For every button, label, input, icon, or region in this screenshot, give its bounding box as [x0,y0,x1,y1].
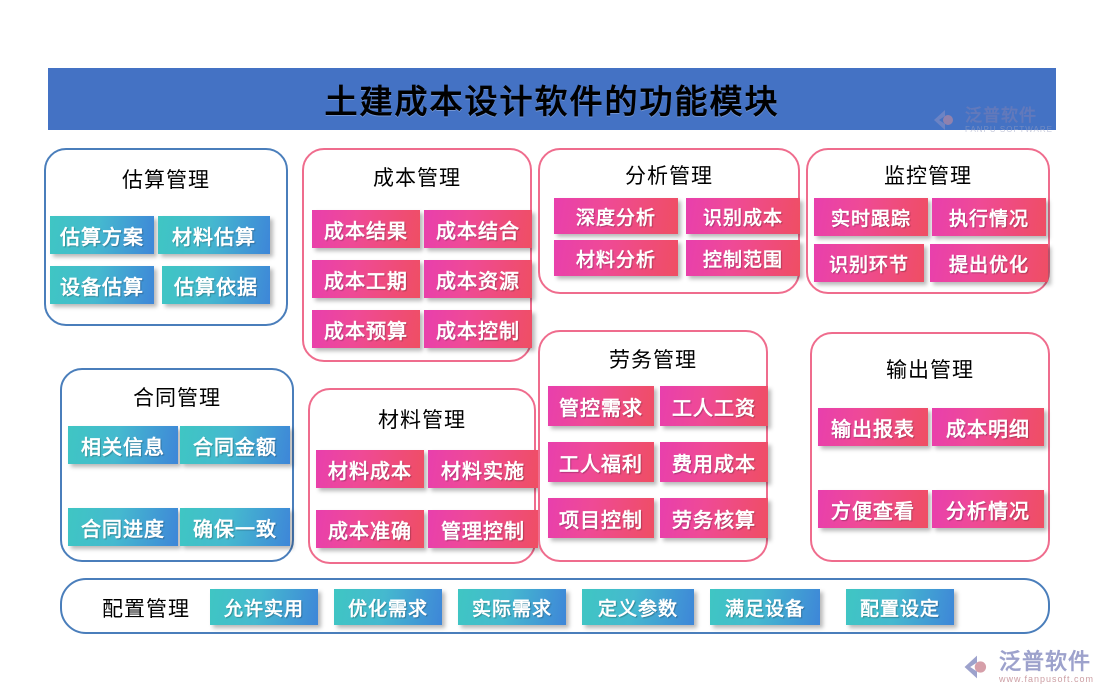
module-card-material: 材料管理材料成本材料实施成本准确管理控制 [308,388,536,564]
module-chip[interactable]: 管理控制 [428,510,538,548]
config-chip[interactable]: 实际需求 [458,589,566,625]
module-chip[interactable]: 劳务核算 [660,498,768,538]
module-chip[interactable]: 方便查看 [818,490,928,528]
brand-logo-top: 泛普软件 FANPU SOFTWARE [930,105,1053,135]
module-chip[interactable]: 成本结合 [424,210,532,248]
module-chip[interactable]: 合同进度 [68,508,178,546]
module-chip[interactable]: 材料分析 [554,240,678,276]
module-card-cost: 成本管理成本结果成本结合成本工期成本资源成本预算成本控制 [302,148,532,362]
config-chip[interactable]: 配置设定 [846,589,954,625]
module-chip[interactable]: 识别成本 [686,198,800,234]
module-chip[interactable]: 材料成本 [316,450,424,488]
page-title: 土建成本设计软件的功能模块 [48,68,1056,130]
module-chip[interactable]: 成本结果 [312,210,420,248]
module-chip[interactable]: 费用成本 [660,442,768,482]
module-chip[interactable]: 成本明细 [932,408,1044,446]
module-chip[interactable]: 成本工期 [312,260,420,298]
module-card-contract: 合同管理相关信息合同金额合同进度确保一致 [60,368,294,562]
config-management-title: 配置管理 [102,593,190,623]
module-card-monitor: 监控管理实时跟踪执行情况识别环节提出优化 [806,148,1050,294]
module-card-title: 合同管理 [62,382,292,412]
module-card-output: 输出管理输出报表成本明细方便查看分析情况 [810,332,1050,562]
fanpu-logo-icon [960,650,994,684]
module-chip[interactable]: 确保一致 [180,508,290,546]
module-card-title: 监控管理 [808,160,1048,190]
module-card-title: 估算管理 [46,164,286,194]
brand-name-cn: 泛普软件 [999,651,1094,673]
module-card-title: 输出管理 [812,354,1048,384]
module-chip[interactable]: 设备估算 [50,266,154,304]
module-chip[interactable]: 提出优化 [930,244,1048,282]
module-chip[interactable]: 执行情况 [932,198,1046,236]
module-card-labor: 劳务管理管控需求工人工资工人福利费用成本项目控制劳务核算 [538,330,768,562]
module-chip[interactable]: 成本准确 [316,510,424,548]
module-chip[interactable]: 输出报表 [818,408,928,446]
module-card-title: 材料管理 [310,404,534,434]
module-card-estimate: 估算管理估算方案材料估算设备估算估算依据 [44,148,288,326]
module-chip[interactable]: 相关信息 [68,426,178,464]
module-chip[interactable]: 控制范围 [686,240,800,276]
module-chip[interactable]: 材料实施 [428,450,538,488]
module-chip[interactable]: 分析情况 [932,490,1044,528]
brand-name-cn: 泛普软件 [965,107,1053,124]
module-chip[interactable]: 识别环节 [814,244,924,282]
module-chip[interactable]: 工人工资 [660,386,768,426]
config-chip[interactable]: 满足设备 [710,589,820,625]
module-chip[interactable]: 材料估算 [158,216,270,254]
module-chip[interactable]: 成本控制 [424,310,532,348]
module-card-title: 劳务管理 [540,344,766,374]
module-chip[interactable]: 估算方案 [50,216,154,254]
module-chip[interactable]: 合同金额 [180,426,290,464]
brand-name-en: FANPU SOFTWARE [965,126,1053,134]
diagram-canvas: 土建成本设计软件的功能模块 泛普软件 FANPU SOFTWARE 泛普软件 w… [0,0,1100,700]
brand-site-url: www.fanpusoft.com [999,675,1094,684]
module-card-analysis: 分析管理深度分析识别成本材料分析控制范围 [538,148,800,294]
module-chip[interactable]: 工人福利 [548,442,654,482]
title-banner: 土建成本设计软件的功能模块 [48,68,1056,130]
brand-logo-bottom: 泛普软件 www.fanpusoft.com [960,650,1094,684]
module-chip[interactable]: 管控需求 [548,386,654,426]
module-chip[interactable]: 成本预算 [312,310,420,348]
fanpu-logo-icon [930,105,960,135]
module-chip[interactable]: 深度分析 [554,198,678,234]
config-management-bar: 配置管理 允许实用优化需求实际需求定义参数满足设备配置设定 [60,578,1050,634]
module-card-title: 成本管理 [304,162,530,192]
module-chip[interactable]: 成本资源 [424,260,532,298]
config-chip[interactable]: 允许实用 [210,589,318,625]
config-chip[interactable]: 定义参数 [582,589,694,625]
module-chip[interactable]: 估算依据 [162,266,270,304]
module-chip[interactable]: 项目控制 [548,498,654,538]
module-card-title: 分析管理 [540,160,798,190]
config-chip[interactable]: 优化需求 [334,589,442,625]
module-chip[interactable]: 实时跟踪 [814,198,928,236]
